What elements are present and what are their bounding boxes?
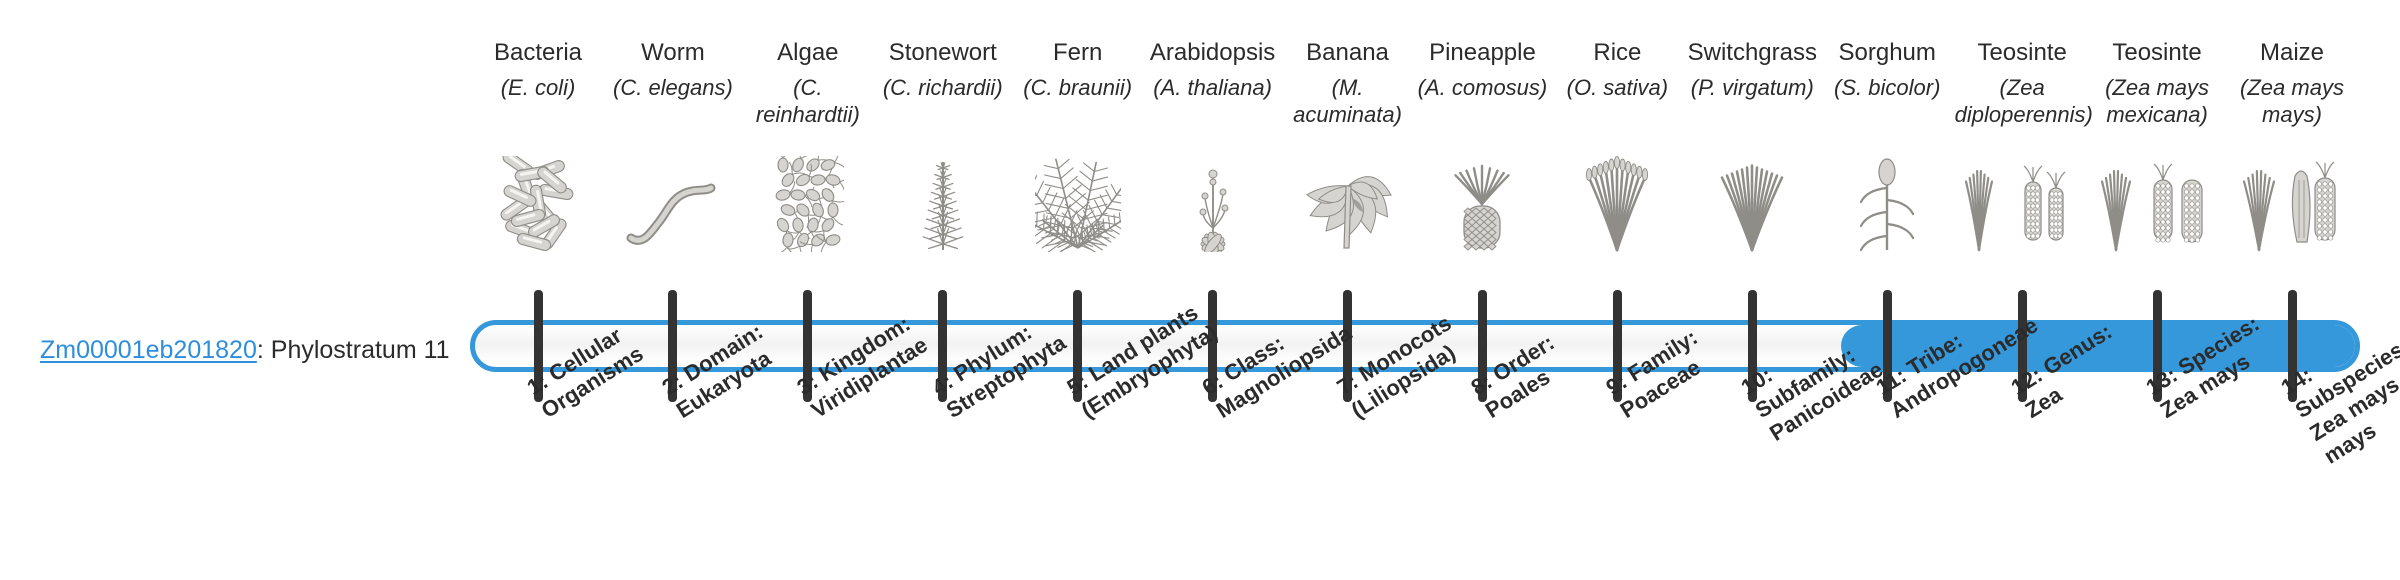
species-scientific-name: (A. thaliana) xyxy=(1145,74,1280,101)
species-scientific-name: (P. virgatum) xyxy=(1685,74,1820,101)
phylostratum-value: Phylostratum 11 xyxy=(271,336,450,364)
species-common-name: Sorghum xyxy=(1820,38,1955,68)
species-column-row: Bacteria(E. coli) xyxy=(470,38,2360,308)
arabidopsis-illustration xyxy=(1145,162,1280,252)
species-scientific-name: (Zea diploperennis) xyxy=(1955,74,2090,128)
species-scientific-name: (O. sativa) xyxy=(1550,74,1685,101)
gene-id-link[interactable]: Zm00001eb201820 xyxy=(40,336,257,364)
species-common-name: Teosinte xyxy=(2090,38,2225,68)
species-scientific-name: (A. comosus) xyxy=(1415,74,1550,101)
label-separator: : xyxy=(257,336,271,364)
maize-illustration xyxy=(2225,162,2360,252)
species-common-name: Rice xyxy=(1550,38,1685,68)
bacteria-illustration xyxy=(471,162,606,252)
sorghum-illustration xyxy=(1820,162,1955,252)
species-column: Stonewort(C. richardii) xyxy=(875,38,1010,101)
species-column: Fern(C. braunii) xyxy=(1010,38,1145,101)
species-column: Rice(O. sativa) xyxy=(1550,38,1685,101)
species-scientific-name: (C. reinhardtii) xyxy=(740,74,875,128)
species-common-name: Maize xyxy=(2225,38,2360,68)
species-column: Switchgrass(P. virgatum) xyxy=(1685,38,1820,101)
worm-illustration xyxy=(605,162,740,252)
algae-illustration xyxy=(740,162,875,252)
species-scientific-name: (Zea mays mexicana) xyxy=(2090,74,2225,128)
stonewort-illustration xyxy=(875,162,1010,252)
teosinte-mexicana-illustration xyxy=(2090,162,2225,252)
stratum-label-row: 1: Cellular Organisms2: Domain: Eukaryot… xyxy=(470,378,2360,578)
species-common-name: Teosinte xyxy=(1955,38,2090,68)
species-scientific-name: (M. acuminata) xyxy=(1280,74,1415,128)
species-column: Maize(Zea mays mays) xyxy=(2225,38,2360,128)
species-column: Bacteria(E. coli) xyxy=(471,38,606,101)
phylostratigraphy-diagram: Zm00001eb201820: Phylostratum 11 Bacteri… xyxy=(0,0,2400,580)
gene-phylostratum-label: Zm00001eb201820: Phylostratum 11 xyxy=(40,336,450,365)
rice-illustration xyxy=(1550,162,1685,252)
species-scientific-name: (E. coli) xyxy=(471,74,606,101)
species-column: Teosinte(Zea mays mexicana) xyxy=(2090,38,2225,128)
species-column: Arabidopsis(A. thaliana) xyxy=(1145,38,1280,101)
species-common-name: Arabidopsis xyxy=(1145,38,1280,68)
species-common-name: Switchgrass xyxy=(1685,38,1820,68)
fern-illustration xyxy=(1010,162,1145,252)
species-common-name: Bacteria xyxy=(471,38,606,68)
species-scientific-name: (C. richardii) xyxy=(875,74,1010,101)
species-common-name: Pineapple xyxy=(1415,38,1550,68)
species-scientific-name: (C. elegans) xyxy=(605,74,740,101)
banana-illustration xyxy=(1280,162,1415,252)
species-common-name: Worm xyxy=(605,38,740,68)
species-common-name: Stonewort xyxy=(875,38,1010,68)
switchgrass-illustration xyxy=(1685,162,1820,252)
species-column: Worm(C. elegans) xyxy=(605,38,740,101)
species-common-name: Algae xyxy=(740,38,875,68)
species-common-name: Fern xyxy=(1010,38,1145,68)
teosinte-diploperennis-illustration xyxy=(1955,162,2090,252)
species-column: Banana(M. acuminata) xyxy=(1280,38,1415,128)
species-scientific-name: (S. bicolor) xyxy=(1820,74,1955,101)
species-scientific-name: (C. braunii) xyxy=(1010,74,1145,101)
species-column: Teosinte(Zea diploperennis) xyxy=(1955,38,2090,128)
species-column: Algae(C. reinhardtii) xyxy=(740,38,875,128)
pineapple-illustration xyxy=(1415,162,1550,252)
species-scientific-name: (Zea mays mays) xyxy=(2225,74,2360,128)
species-column: Sorghum(S. bicolor) xyxy=(1820,38,1955,101)
species-common-name: Banana xyxy=(1280,38,1415,68)
species-column: Pineapple(A. comosus) xyxy=(1415,38,1550,101)
